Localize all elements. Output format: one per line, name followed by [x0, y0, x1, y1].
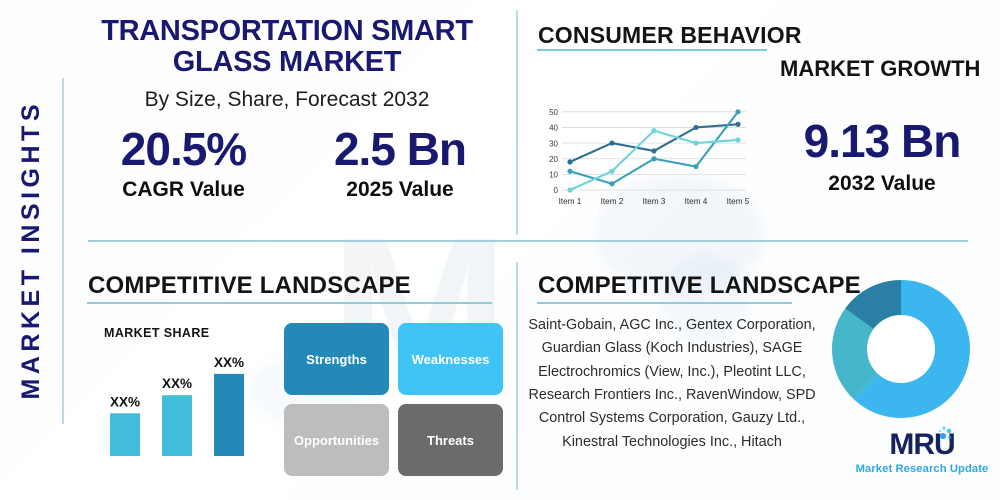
stat-cagr: 20.5% CAGR Value — [86, 126, 281, 202]
market-share-title: MARKET SHARE — [104, 326, 210, 340]
line-chart-y-tick: 30 — [549, 139, 558, 148]
bar-value-label: XX% — [162, 376, 192, 391]
rail-divider — [62, 78, 64, 424]
line-data-point — [735, 122, 740, 127]
swot-box-threats[interactable]: Threats — [398, 404, 503, 476]
swot-box-weaknesses[interactable]: Weaknesses — [398, 323, 503, 395]
swot-label: Weaknesses — [412, 352, 490, 367]
logo-bubbles-icon — [936, 422, 958, 444]
stat-base-year: 2.5 Bn 2025 Value — [300, 126, 500, 202]
line-chart-y-tick: 50 — [549, 108, 558, 117]
line-chart-x-ticks: Item 1Item 2Item 3Item 4Item 5 — [559, 197, 750, 206]
forecast-label: 2032 Value — [782, 172, 982, 196]
page-title: TRANSPORTATION SMART GLASS MARKET — [62, 16, 512, 77]
cagr-value: 20.5% — [86, 126, 281, 172]
line-data-point — [567, 159, 572, 164]
line-chart-x-tick: Item 5 — [727, 197, 750, 206]
bar-value-label: XX% — [110, 394, 140, 409]
vertical-divider-top — [516, 10, 518, 235]
swot-box-strengths[interactable]: Strengths — [284, 323, 389, 395]
line-data-point — [693, 125, 698, 130]
line-data-point — [567, 187, 572, 192]
competitive-landscape-right-heading: COMPETITIVE LANDSCAPE — [538, 272, 861, 300]
swot-label: Threats — [427, 433, 474, 448]
line-data-point — [609, 181, 614, 186]
swot-label: Strengths — [306, 352, 367, 367]
line-data-point — [609, 169, 614, 174]
logo-mark: MRU — [889, 430, 954, 460]
line-chart-y-tick: 10 — [549, 171, 558, 180]
consumer-behavior-heading: CONSUMER BEHAVIOR — [538, 22, 802, 49]
forecast-value: 9.13 Bn — [782, 118, 982, 164]
line-chart-x-tick: Item 1 — [559, 197, 582, 206]
line-chart-x-tick: Item 4 — [685, 197, 708, 206]
line-data-point — [651, 148, 656, 153]
page-subtitle: By Size, Share, Forecast 2032 — [62, 88, 512, 112]
cagr-label: CAGR Value — [86, 178, 281, 202]
line-data-point — [693, 140, 698, 145]
donut-hole — [867, 315, 935, 383]
bar — [214, 374, 244, 456]
swot-box-opportunities[interactable]: Opportunities — [284, 404, 389, 476]
line-data-point — [609, 140, 614, 145]
swot-label: Opportunities — [294, 433, 379, 448]
competitive-landscape-right-underline — [537, 302, 792, 304]
company-list: Saint-Gobain, AGC Inc., Gentex Corporati… — [527, 314, 817, 454]
horizontal-divider — [88, 240, 968, 242]
bar — [162, 395, 192, 456]
base-year-label: 2025 Value — [300, 178, 500, 202]
rail-label: MARKET INSIGHTS — [17, 100, 46, 399]
line-chart-y-tick: 0 — [554, 186, 559, 195]
market-share-bar-chart: XX%XX%XX% — [96, 340, 266, 468]
base-year-value: 2.5 Bn — [300, 126, 500, 172]
line-chart-y-tick: 40 — [549, 124, 558, 133]
line-data-point — [693, 164, 698, 169]
line-data-point — [651, 128, 656, 133]
consumer-behavior-line-chart: 01020304050 Item 1Item 2Item 3Item 4Item… — [536, 96, 752, 212]
line-data-point — [651, 156, 656, 161]
line-chart-x-tick: Item 3 — [643, 197, 666, 206]
logo-tagline: Market Research Update — [852, 463, 992, 475]
market-growth-heading: MARKET GROWTH — [780, 56, 980, 82]
line-chart-x-tick: Item 2 — [601, 197, 624, 206]
line-data-point — [735, 109, 740, 114]
market-insights-rail: MARKET INSIGHTS — [0, 0, 62, 500]
line-data-point — [735, 137, 740, 142]
market-share-donut-chart — [832, 280, 970, 418]
consumer-behavior-underline — [537, 49, 767, 51]
competitive-landscape-left-underline — [87, 302, 492, 304]
line-data-point — [567, 169, 572, 174]
line-chart-y-tick: 20 — [549, 155, 558, 164]
infographic-page: M MARKET INSIGHTS TRANSPORTATION SMART G… — [0, 0, 1000, 500]
line-series-series-mid — [570, 112, 738, 184]
line-chart-y-ticks: 01020304050 — [549, 108, 558, 195]
bar — [110, 413, 140, 456]
swot-grid: Strengths Weaknesses Opportunities Threa… — [284, 323, 503, 476]
vertical-divider-bottom — [516, 262, 518, 490]
brand-logo: MRU Market Research Update — [852, 430, 992, 475]
competitive-landscape-left-heading: COMPETITIVE LANDSCAPE — [88, 272, 411, 300]
line-chart-series — [567, 109, 740, 192]
bar-value-label: XX% — [214, 355, 244, 370]
